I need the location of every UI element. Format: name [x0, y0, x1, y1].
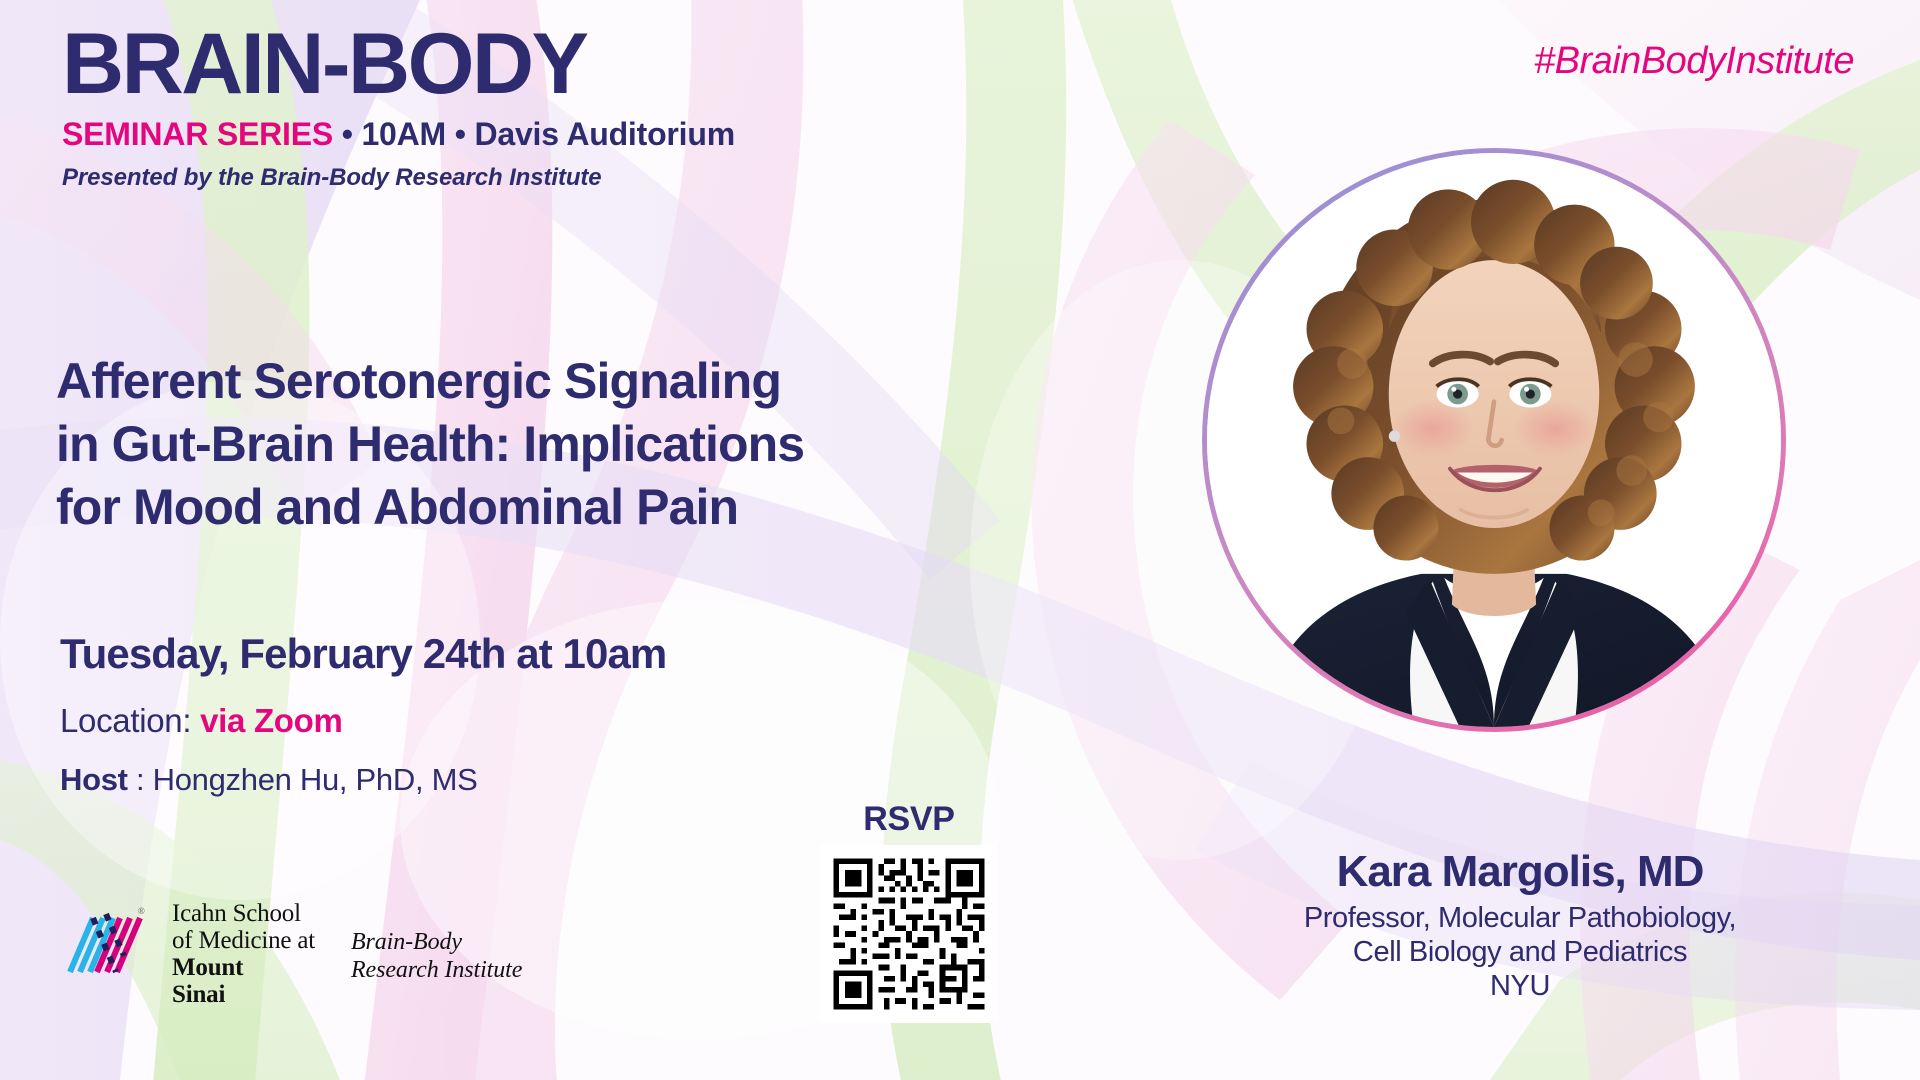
event-host: Host : Hongzhen Hu, PhD, MS [60, 762, 666, 798]
ms-line-4: Sinai [172, 981, 315, 1008]
seminar-poster: BRAIN-BODY SEMINAR SERIES • 10AM • Davis… [0, 0, 1920, 1080]
event-details: Tuesday, February 24th at 10am Location:… [60, 630, 666, 798]
host-value: : Hongzhen Hu, PhD, MS [136, 762, 477, 797]
location-value[interactable]: via Zoom [200, 702, 342, 739]
mount-sinai-chevron-icon: ® [66, 900, 158, 974]
institute-line-1: Brain-Body [351, 928, 522, 956]
poster-header: BRAIN-BODY SEMINAR SERIES • 10AM • Davis… [62, 22, 735, 192]
series-time: 10AM [361, 116, 446, 152]
qr-code[interactable] [820, 845, 998, 1023]
brand-title: BRAIN-BODY [62, 22, 735, 106]
hashtag: #BrainBodyInstitute [1534, 40, 1854, 83]
rsvp-block[interactable]: RSVP [820, 800, 998, 1023]
speaker-portrait-ring [1202, 148, 1786, 732]
ms-line-2: of Medicine at [172, 927, 315, 954]
speaker-role-line-1: Professor, Molecular Pathobiology, [1240, 902, 1800, 936]
talk-title-line-1: Afferent Serotonergic Signaling [56, 350, 1016, 413]
event-datetime: Tuesday, February 24th at 10am [60, 630, 666, 678]
svg-text:®: ® [138, 906, 145, 916]
ms-line-1: Icahn School [172, 900, 315, 927]
speaker-portrait [1207, 153, 1781, 727]
speaker-role: Professor, Molecular Pathobiology, Cell … [1240, 902, 1800, 1004]
series-subline: SEMINAR SERIES • 10AM • Davis Auditorium [62, 118, 735, 150]
host-label: Host [60, 762, 128, 797]
logo-row: ® Icahn School of Medicine at Mount Sina… [66, 900, 522, 1008]
rsvp-label: RSVP [863, 800, 954, 839]
mount-sinai-wordmark: Icahn School of Medicine at Mount Sinai [172, 900, 315, 1008]
event-location: Location: via Zoom [60, 702, 666, 740]
presented-by: Presented by the Brain-Body Research Ins… [62, 164, 735, 192]
speaker-photo-illustration [1207, 153, 1781, 727]
speaker-name: Kara Margolis, MD [1240, 848, 1800, 896]
speaker-caption: Kara Margolis, MD Professor, Molecular P… [1240, 848, 1800, 1004]
speaker-role-line-3: NYU [1240, 970, 1800, 1004]
ms-line-3: Mount [172, 954, 315, 981]
speaker-role-line-2: Cell Biology and Pediatrics [1240, 936, 1800, 970]
bullet-separator-1: • [342, 116, 353, 152]
institute-wordmark: Brain-Body Research Institute [351, 900, 522, 985]
institute-line-2: Research Institute [351, 956, 522, 984]
talk-title: Afferent Serotonergic Signaling in Gut-B… [56, 350, 1016, 539]
series-label: SEMINAR SERIES [62, 116, 333, 152]
talk-title-line-2: in Gut-Brain Health: Implications [56, 413, 1016, 476]
mount-sinai-logo: ® Icahn School of Medicine at Mount Sina… [66, 900, 315, 1008]
bullet-separator-2: • [455, 116, 466, 152]
location-label: Location: [60, 702, 200, 739]
series-venue: Davis Auditorium [474, 116, 735, 152]
talk-title-line-3: for Mood and Abdominal Pain [56, 476, 1016, 539]
